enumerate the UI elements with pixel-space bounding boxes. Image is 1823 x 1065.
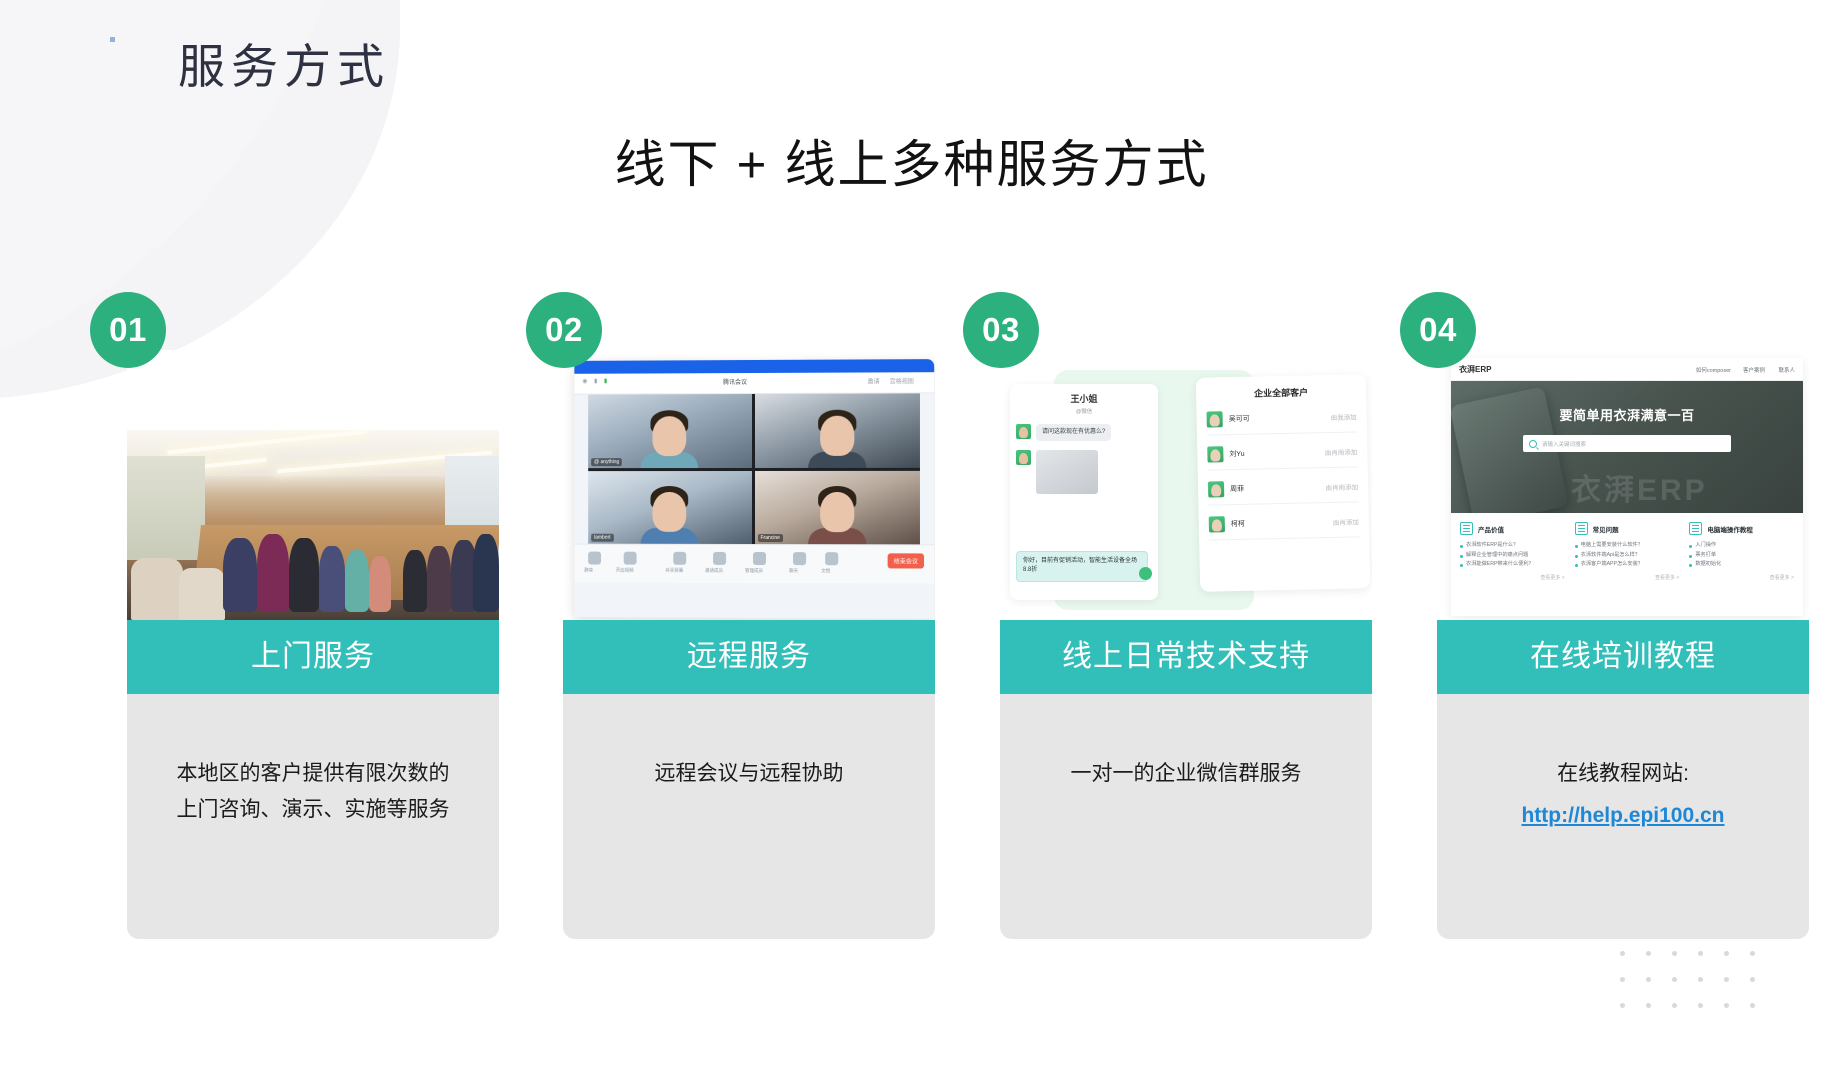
card-desc-line: 本地区的客户提供有限次数的 (145, 756, 481, 792)
leave-meeting-button[interactable]: 结束会议 (888, 553, 924, 568)
service-card-1[interactable]: 01 (127, 350, 499, 939)
column-more-link[interactable]: 查看更多 > (1460, 574, 1565, 581)
card-badge-03: 03 (963, 292, 1039, 368)
customer-name: 周菲 (1230, 482, 1326, 494)
headline: 线下 + 线上多种服务方式 (0, 132, 1823, 198)
column-title: 电脑端操作教程 (1707, 524, 1753, 534)
mute-label: 静音 (584, 567, 593, 573)
wechat-chat-panel: 王小姐 @微信 请问这款现在有优惠么? 你好，目前有促销活动，智能生活设备全场8… (1010, 384, 1158, 600)
site-column-pc-tutorial: 电脑端操作教程 入门操作 票务打单 数据初始化 查看更多 > (1689, 522, 1794, 581)
wechat-contact-name: 王小姐 (1016, 392, 1152, 405)
dot (1620, 977, 1625, 982)
person (289, 538, 319, 612)
list-item[interactable]: 刘Yu 由肖雨添加 (1207, 443, 1357, 470)
column-header: 常见问题 (1575, 522, 1680, 535)
person (403, 550, 427, 612)
list-icon (1460, 522, 1473, 535)
invite-label[interactable]: 邀请 (867, 376, 879, 385)
glass-wall (127, 456, 205, 560)
card-title-2: 远程服务 (563, 620, 935, 694)
participant-name: @ anything (591, 458, 622, 466)
column-more-link[interactable]: 查看更多 > (1575, 574, 1680, 581)
app-toolbar: ◉ ▮ ▮ 腾讯会议 邀请 宫格视图 (574, 372, 934, 394)
video-tile[interactable]: Francine (754, 470, 919, 544)
dot (1698, 977, 1703, 982)
docs-label: 文档 (821, 568, 830, 574)
person (369, 556, 391, 612)
dot (1646, 1003, 1651, 1008)
card-media-wechat: 王小姐 @微信 请问这款现在有优惠么? 你好，目前有促销活动，智能生活设备全场8… (1000, 350, 1372, 620)
app-window-title: 腾讯会议 (723, 377, 747, 386)
search-icon (1529, 440, 1537, 448)
nav-link[interactable]: 如何composer (1696, 366, 1731, 374)
video-tile[interactable]: lambert (588, 471, 751, 544)
dot (1672, 977, 1677, 982)
card-badge-02: 02 (526, 292, 602, 368)
participant-head (820, 492, 854, 532)
wechat-contact-sub: @微信 (1016, 407, 1152, 415)
monitor-icon (1689, 522, 1702, 535)
wechat-reply-bubble: 你好，目前有促销活动，智能生活设备全场8.8折 (1016, 551, 1148, 582)
person (223, 538, 257, 612)
manage-members-button[interactable] (753, 552, 766, 565)
search-placeholder: 请输入关键词搜索 (1542, 440, 1586, 448)
participant-name: Francine (757, 534, 782, 542)
column-link[interactable]: 衣湃客户端APP怎么安装？ (1575, 560, 1680, 570)
dot (1724, 1003, 1729, 1008)
help-site-mockup: 衣湃ERP 如何composer 客户案例 联系人 衣湃ERP 要简单用衣湃满意… (1451, 358, 1803, 616)
dot (1750, 1003, 1755, 1008)
card-title-3: 线上日常技术支持 (1000, 620, 1372, 694)
participant-head (653, 492, 687, 532)
dot (1620, 951, 1625, 956)
column-header: 产品价值 (1460, 522, 1565, 535)
list-item[interactable]: 吴可可 由我添加 (1206, 408, 1356, 435)
chat-button[interactable] (793, 552, 806, 565)
participant-head (820, 415, 854, 455)
decorative-dot-grid (1620, 951, 1776, 1029)
card-body-1: 本地区的客户提供有限次数的 上门咨询、演示、实施等服务 (127, 694, 499, 939)
avatar (1209, 516, 1225, 532)
site-logo: 衣湃ERP (1459, 364, 1491, 375)
card-media-meeting-room (127, 350, 499, 620)
customer-name: 吴可可 (1229, 412, 1331, 424)
wechat-product-image (1036, 450, 1098, 494)
avatar (1208, 481, 1224, 497)
person (257, 534, 289, 612)
customer-added-by: 由我添加 (1331, 411, 1357, 422)
column-more-link[interactable]: 查看更多 > (1689, 574, 1794, 581)
card-media-video-app: ◉ ▮ ▮ 腾讯会议 邀请 宫格视图 @ anything (563, 350, 935, 620)
service-card-3[interactable]: 03 王小姐 @微信 请问这款现在有优惠么? 你好，目前有促销活动，智能生活设备… (1000, 350, 1372, 939)
video-tile[interactable] (754, 393, 919, 467)
card-body-4: 在线教程网站: http://help.epi100.cn (1437, 694, 1809, 939)
column-link[interactable]: 数据初始化 (1689, 560, 1794, 570)
hero-title: 要简单用衣湃满意一百 (1451, 405, 1803, 424)
card-body-3: 一对一的企业微信群服务 (1000, 694, 1372, 939)
dot (1698, 1003, 1703, 1008)
person (427, 546, 451, 612)
customer-added-by: 由肖雨添加 (1325, 481, 1358, 492)
manage-members-label: 管理成员 (745, 568, 763, 574)
mute-button[interactable] (588, 552, 601, 565)
site-columns: 产品价值 衣湃软件ERP是什么？ 解释企业管理中的痛点问题 衣湃能做ERP带来什… (1451, 513, 1803, 581)
share-screen-label: 共享屏幕 (665, 568, 683, 574)
column-link[interactable]: 衣湃软件端Api是怎么样？ (1575, 551, 1680, 561)
column-link[interactable]: 电脑上需要安装什么软件？ (1575, 541, 1680, 551)
column-title: 产品价值 (1478, 524, 1504, 534)
customer-added-by: 由肖雨添加 (1325, 446, 1358, 457)
chair (131, 558, 183, 620)
dot (1724, 977, 1729, 982)
card-body-2: 远程会议与远程协助 (563, 694, 935, 939)
avatar (1207, 446, 1223, 462)
column-link[interactable]: 衣湃能做ERP带来什么便利？ (1460, 560, 1565, 570)
site-column-faq: 常见问题 电脑上需要安装什么软件？ 衣湃软件端Api是怎么样？ 衣湃客户端APP… (1575, 522, 1680, 581)
video-button[interactable] (624, 552, 637, 565)
card-badge-01: 01 (90, 292, 166, 368)
wechat-support-mockup: 王小姐 @微信 请问这款现在有优惠么? 你好，目前有促销活动，智能生活设备全场8… (1000, 358, 1372, 620)
dot (1750, 951, 1755, 956)
video-tile-grid: @ anything lambert (588, 393, 920, 544)
wechat-message-row: 请问这款现在有优惠么? (1016, 424, 1152, 441)
nav-link[interactable]: 客户案例 (1743, 366, 1765, 374)
app-bottom-bar: 静音 开启视频 共享屏幕 邀请成员 管理成员 聊天 文档 结束会议 (574, 544, 934, 584)
column-link[interactable]: 衣湃软件ERP是什么？ (1460, 541, 1565, 551)
view-mode-label[interactable]: 宫格视图 (890, 376, 914, 385)
video-tile[interactable]: @ anything (588, 394, 751, 468)
card-desc-line: 远程会议与远程协助 (581, 756, 917, 792)
meeting-room-photo (127, 430, 499, 620)
dot (1672, 1003, 1677, 1008)
service-cards-row: 01 (0, 350, 1823, 950)
list-item[interactable]: 周菲 由肖雨添加 (1208, 478, 1358, 505)
customer-added-by: 由肖添加 (1333, 516, 1359, 527)
invite-members-label: 邀请成员 (705, 568, 723, 574)
column-header: 电脑端操作教程 (1689, 522, 1794, 535)
invite-members-button[interactable] (713, 552, 726, 565)
column-link[interactable]: 票务打单 (1689, 551, 1794, 561)
question-icon (1575, 522, 1588, 535)
docs-button[interactable] (825, 552, 838, 565)
video-label: 开启视频 (616, 568, 634, 574)
tutorial-site-link[interactable]: http://help.epi100.cn (1455, 798, 1791, 834)
service-card-2[interactable]: 02 ◉ ▮ ▮ 腾讯会议 邀请 宫格视图 @ anythi (563, 350, 935, 939)
list-item[interactable]: 柯柯 由肖添加 (1209, 513, 1359, 540)
service-card-4[interactable]: 04 衣湃ERP 如何composer 客户案例 联系人 衣湃ERP 要简单用衣… (1437, 350, 1809, 939)
card-desc-line: 在线教程网站: (1455, 756, 1791, 792)
avatar (1016, 450, 1031, 465)
card-title-1: 上门服务 (127, 620, 499, 694)
site-navbar: 衣湃ERP 如何composer 客户案例 联系人 (1451, 358, 1803, 381)
chat-label: 聊天 (789, 568, 798, 574)
card-desc-line: 一对一的企业微信群服务 (1018, 756, 1354, 792)
wechat-customer-list: 企业全部客户 吴可可 由我添加 刘Yu 由肖雨添加 周菲 由肖雨添加 (1196, 374, 1370, 592)
dot (1750, 977, 1755, 982)
column-title: 常见问题 (1593, 524, 1619, 534)
avatar (1016, 424, 1031, 439)
page-title: 服务方式 (178, 37, 390, 97)
dot (1724, 951, 1729, 956)
nav-link[interactable]: 联系人 (1778, 366, 1795, 374)
card-title-4: 在线培训教程 (1437, 620, 1809, 694)
dot (1646, 977, 1651, 982)
wechat-agent-avatar (1139, 567, 1152, 580)
wechat-message-bubble: 请问这款现在有优惠么? (1036, 424, 1111, 441)
wechat-message-row (1016, 450, 1152, 494)
card-media-help-site: 衣湃ERP 如何composer 客户案例 联系人 衣湃ERP 要简单用衣湃满意… (1437, 350, 1809, 620)
column-link[interactable]: 解释企业管理中的痛点问题 (1460, 551, 1565, 561)
site-hero: 衣湃ERP 要简单用衣湃满意一百 请输入关键词搜索 (1451, 381, 1803, 513)
dot (1672, 951, 1677, 956)
customer-list-title: 企业全部客户 (1206, 384, 1356, 400)
dot (1620, 1003, 1625, 1008)
participant-name: lambert (591, 534, 613, 542)
site-column-product-value: 产品价值 衣湃软件ERP是什么？ 解释企业管理中的痛点问题 衣湃能做ERP带来什… (1460, 522, 1565, 581)
customer-name: 刘Yu (1229, 447, 1325, 459)
chair (179, 568, 225, 620)
card-desc-line: 上门咨询、演示、实施等服务 (145, 792, 481, 828)
dot (1698, 951, 1703, 956)
site-search-box[interactable]: 请输入关键词搜索 (1523, 435, 1731, 452)
customer-name: 柯柯 (1231, 517, 1333, 529)
hero-watermark: 衣湃ERP (1571, 465, 1708, 509)
dot (1646, 951, 1651, 956)
person (473, 534, 499, 612)
column-link[interactable]: 入门操作 (1689, 541, 1794, 551)
title-accent-dot (110, 37, 115, 42)
video-conference-app: ◉ ▮ ▮ 腾讯会议 邀请 宫格视图 @ anything (574, 359, 934, 619)
person (319, 546, 345, 612)
participant-head (653, 416, 687, 456)
avatar (1206, 411, 1222, 427)
share-screen-button[interactable] (673, 552, 686, 565)
card-badge-04: 04 (1400, 292, 1476, 368)
person (345, 550, 369, 612)
